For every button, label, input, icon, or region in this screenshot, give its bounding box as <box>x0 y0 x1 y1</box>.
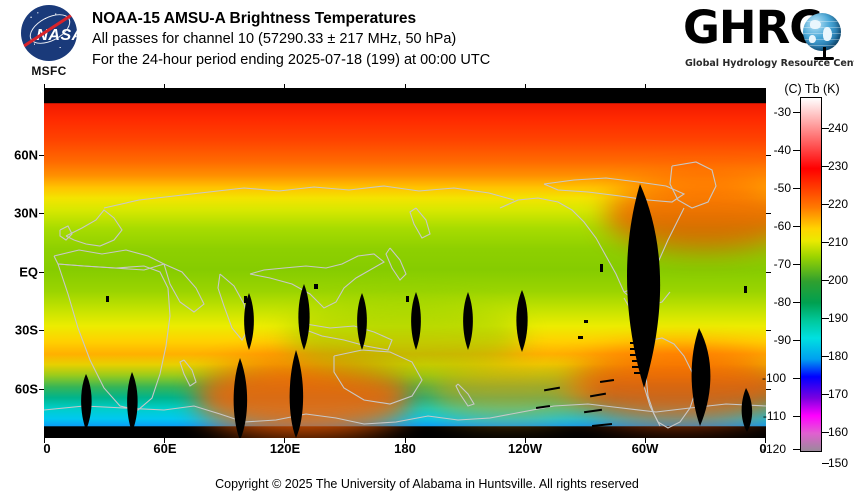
cb-kelvin-label-5: 190 <box>828 311 848 325</box>
data-gap-3 <box>357 293 367 350</box>
cb-celsius-label-7: -100 <box>752 371 786 385</box>
x-tick-label-120w: 120W <box>508 441 542 456</box>
y-tick-label-60s: 60S <box>15 382 38 397</box>
x-tick-label-180: 180 <box>394 441 416 456</box>
ghrc-subtitle: Global Hydrology Resource Center <box>685 58 846 69</box>
data-gap-2 <box>298 284 309 350</box>
cb-kelvin-label-6: 180 <box>828 349 848 363</box>
y-tick-label-eq: EQ <box>19 265 38 280</box>
map-panel <box>44 88 766 438</box>
data-gap-s-atlantic <box>742 388 753 432</box>
cb-celsius-label-5: -80 <box>757 295 791 309</box>
cb-celsius-label-1: -40 <box>757 143 791 157</box>
y-tick-label-30s: 30S <box>15 323 38 338</box>
cb-kelvin-label-2: 220 <box>828 197 848 211</box>
swath-data-gaps <box>44 88 766 438</box>
cb-kelvin-label-9: 150 <box>828 456 848 470</box>
y-tick-label-30n: 30N <box>14 206 38 221</box>
data-gap-4 <box>411 292 421 350</box>
cb-kelvin-label-3: 210 <box>828 235 848 249</box>
period-subtitle: For the 24-hour period ending 2025-07-18… <box>92 50 490 71</box>
colorbar-header: (C) Tb (K) <box>770 82 854 96</box>
page-title: NOAA-15 AMSU-A Brightness Temperatures <box>92 8 490 29</box>
cb-celsius-label-8: -110 <box>752 409 786 423</box>
brightness-temperature-map <box>44 88 766 438</box>
ghrc-logo: GHRC Global Hydrology Resource Center <box>683 6 846 76</box>
cb-celsius-label-9: -120 <box>752 442 786 456</box>
cb-kelvin-label-1: 230 <box>828 159 848 173</box>
data-gap-9 <box>234 358 248 438</box>
cb-celsius-label-2: -50 <box>757 181 791 195</box>
cb-kelvin-label-0: 240 <box>828 121 848 135</box>
data-gap-south-america <box>692 328 711 426</box>
colorbar-gradient <box>800 97 822 452</box>
cb-kelvin-label-7: 170 <box>828 387 848 401</box>
copyright-notice: Copyright © 2025 The University of Alaba… <box>0 477 854 491</box>
cb-celsius-label-4: -70 <box>757 257 791 271</box>
data-gap-5 <box>463 292 473 350</box>
header: NASA MSFC NOAA-15 AMSU-A Brightness Temp… <box>0 0 854 88</box>
cb-celsius-label-3: -60 <box>757 219 791 233</box>
globe-icon <box>803 13 841 51</box>
cb-celsius-label-0: -30 <box>757 105 791 119</box>
x-tick-label-120e: 120E <box>270 441 300 456</box>
colorbar <box>800 97 822 452</box>
cb-kelvin-label-4: 200 <box>828 273 848 287</box>
nasa-msfc-logo: NASA MSFC <box>10 4 86 82</box>
data-gap-10 <box>290 350 304 438</box>
title-block: NOAA-15 AMSU-A Brightness Temperatures A… <box>92 8 490 71</box>
y-tick-label-60n: 60N <box>14 148 38 163</box>
x-tick-label-0: 0 <box>43 441 50 456</box>
nasa-meatball-icon: NASA <box>21 5 77 61</box>
cb-celsius-label-6: -90 <box>757 333 791 347</box>
x-tick-label-60e: 60E <box>153 441 176 456</box>
data-gap-7 <box>81 374 92 430</box>
x-tick-label-60w: 60W <box>632 441 659 456</box>
data-gap-8 <box>127 372 138 432</box>
data-gap-americas <box>627 184 660 388</box>
cb-kelvin-label-8: 160 <box>828 425 848 439</box>
nasa-center-label: MSFC <box>10 64 88 78</box>
channel-subtitle: All passes for channel 10 (57290.33 ± 21… <box>92 29 490 50</box>
data-gap-6 <box>516 290 527 352</box>
